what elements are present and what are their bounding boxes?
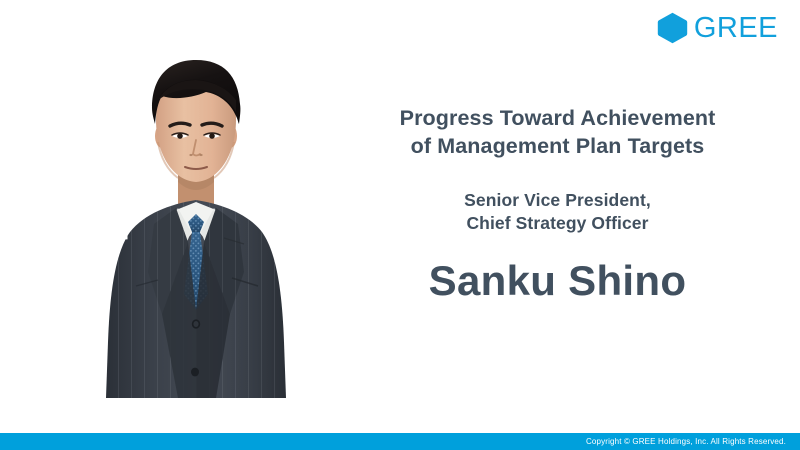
speaker-portrait-photo [92, 42, 300, 398]
slide-title-line-1: Progress Toward Achievement [400, 106, 716, 130]
gree-logo-text: GREE [694, 14, 778, 43]
speaker-role: Senior Vice President, Chief Strategy Of… [330, 189, 785, 236]
speaker-role-line-2: Chief Strategy Officer [466, 213, 648, 233]
slide-text-block: Progress Toward Achievement of Managemen… [330, 104, 785, 304]
footer-bar: Copyright © GREE Holdings, Inc. All Righ… [0, 433, 800, 450]
gree-hexagon-icon [657, 12, 688, 44]
speaker-role-line-1: Senior Vice President, [464, 190, 651, 210]
gree-logo: GREE [657, 12, 778, 44]
presentation-slide: GREE [0, 0, 800, 450]
copyright-text: Copyright © GREE Holdings, Inc. All Righ… [586, 438, 800, 446]
speaker-name: Sanku Shino [330, 258, 785, 304]
slide-title-line-2: of Management Plan Targets [411, 134, 705, 158]
page-title: Progress Toward Achievement of Managemen… [330, 104, 785, 161]
